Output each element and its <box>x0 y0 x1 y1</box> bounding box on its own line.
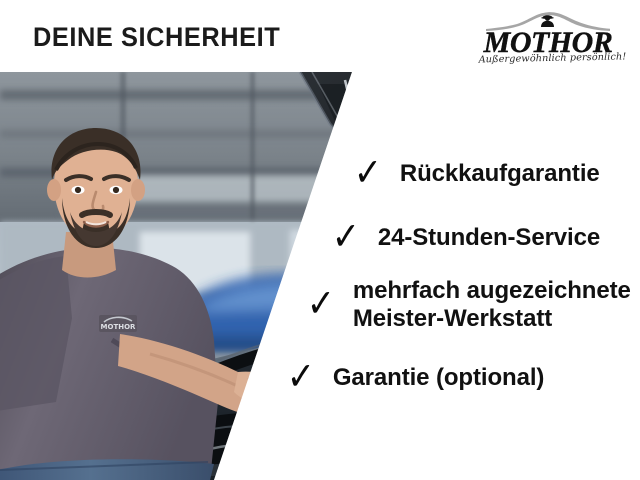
check-icon: ✓ <box>332 217 360 256</box>
page-title: DEINE SICHERHEIT <box>33 22 280 53</box>
list-item-feature-1: ✓ Rückkaufgarantie <box>352 156 600 191</box>
feature-label: Rückkaufgarantie <box>400 160 600 188</box>
banner-header: DEINE SICHERHEIT MOTHOR Außergewöhnlich … <box>0 0 640 72</box>
list-item-feature-3: ✓ mehrfach augezeichnete Meister-Werksta… <box>305 277 631 333</box>
check-icon: ✓ <box>354 153 382 192</box>
brand-logo: MOTHOR Außergewöhnlich persönlich! <box>480 9 616 67</box>
promo-banner: DEINE SICHERHEIT MOTHOR Außergewöhnlich … <box>0 0 640 480</box>
logo-tagline: Außergewöhnlich persönlich! <box>479 52 618 66</box>
check-icon: ✓ <box>287 357 315 396</box>
check-icon: ✓ <box>307 284 335 323</box>
logo-wordmark: MOTHOR <box>480 26 616 54</box>
feature-label: 24-Stunden-Service <box>378 224 600 252</box>
list-item-feature-4: ✓ Garantie (optional) <box>285 360 544 395</box>
feature-label-multiline: mehrfach augezeichnete Meister-Werkstatt <box>353 277 631 333</box>
feature-label-line2: Meister-Werkstatt <box>353 305 631 333</box>
feature-label-line1: mehrfach augezeichnete <box>353 277 631 304</box>
feature-list: ✓ Rückkaufgarantie ✓ 24-Stunden-Service … <box>0 72 640 480</box>
feature-label: Garantie (optional) <box>333 364 544 392</box>
list-item-feature-2: ✓ 24-Stunden-Service <box>330 220 600 255</box>
